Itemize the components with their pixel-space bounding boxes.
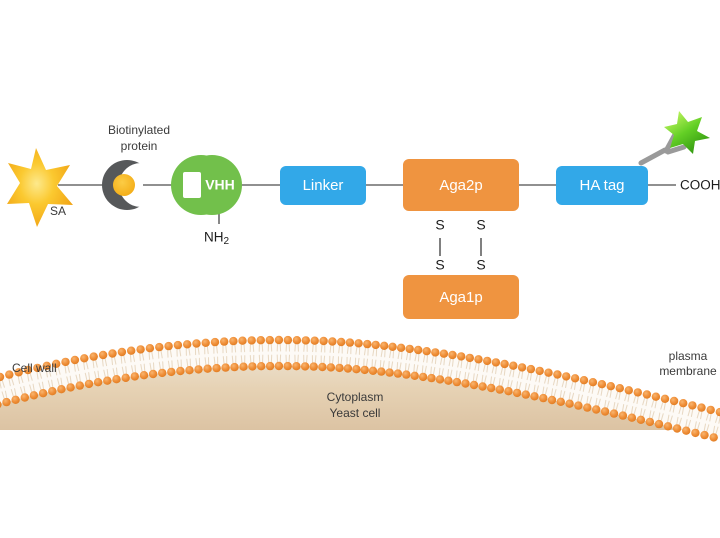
- biotinylated-protein: [90, 145, 170, 225]
- disulfide-2-top-atom: S: [476, 217, 485, 233]
- aga2p-box: Aga2p: [403, 159, 519, 211]
- yeast-cell-label: Yeast cell: [330, 406, 381, 420]
- yeast-display-diagram: SA Biotinylated protein VHH NH2 Linker A…: [0, 0, 720, 538]
- aga2p-label: Aga2p: [439, 177, 482, 194]
- ha-tag-label: HA tag: [579, 177, 624, 194]
- disulfide-bonds: S S S S: [435, 217, 485, 273]
- fluorophore-star-shape: [664, 111, 710, 154]
- aga1p-box: Aga1p: [403, 275, 519, 319]
- linker-box: Linker: [280, 166, 366, 205]
- disulfide-1-bottom-atom: S: [435, 257, 444, 273]
- aga1p-label: Aga1p: [439, 289, 482, 306]
- linker-label: Linker: [303, 177, 344, 194]
- ha-tag-box: HA tag: [556, 166, 648, 205]
- biotin-label-line1: Biotinylated: [108, 123, 170, 137]
- cytoplasm-label: Cytoplasm: [327, 390, 384, 404]
- nh2-label: NH2: [204, 230, 230, 247]
- vhh-label: VHH: [205, 177, 235, 193]
- plasma-membrane-label-line1: plasma: [669, 349, 708, 363]
- sa-label: SA: [50, 204, 66, 218]
- cell-wall-label: Cell wall: [12, 361, 57, 375]
- disulfide-1-top-atom: S: [435, 217, 444, 233]
- plasma-membrane-label-line2: membrane: [659, 364, 717, 378]
- fluorophore-star: [664, 111, 710, 154]
- diagram-canvas: SA Biotinylated protein VHH NH2 Linker A…: [0, 0, 720, 538]
- biotin-dot: [113, 174, 135, 196]
- disulfide-2-bottom-atom: S: [476, 257, 485, 273]
- biotin-label-line2: protein: [121, 139, 158, 153]
- cooh-label: COOH: [680, 178, 720, 193]
